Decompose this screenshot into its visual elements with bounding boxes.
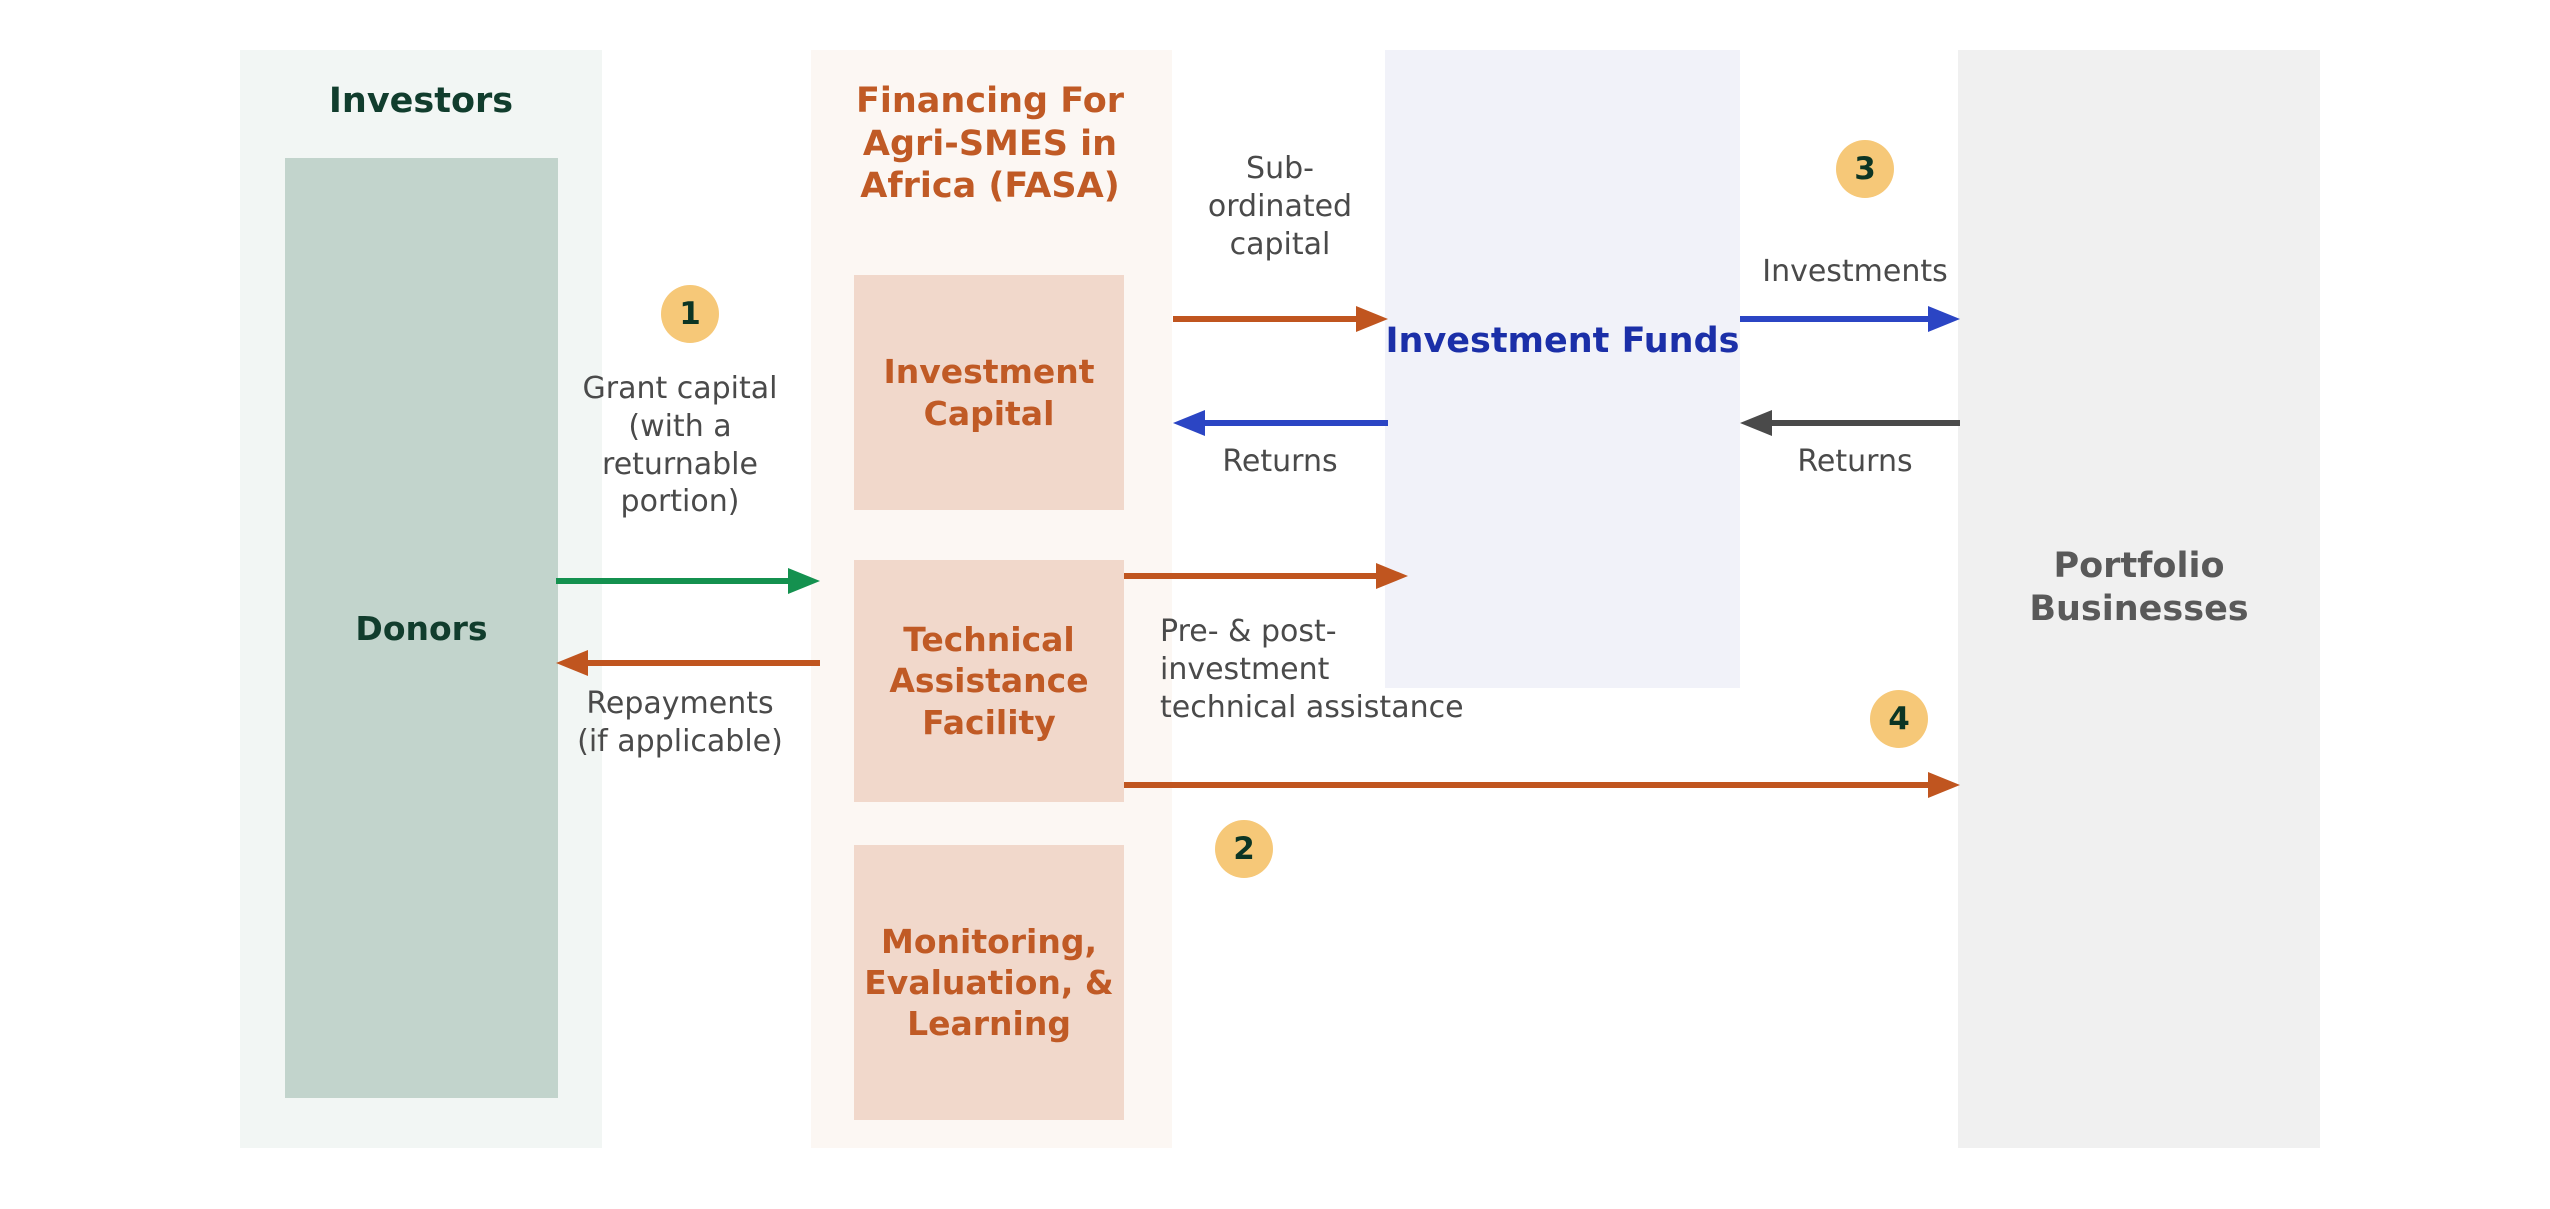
block-technical-assistance-facility: Technical Assistance Facility xyxy=(854,560,1124,802)
title-portfolio-businesses: Portfolio Businesses xyxy=(1958,545,2320,630)
title-fasa: Financing For Agri-SMES in Africa (FASA) xyxy=(840,80,1140,208)
caption-returns-portfolio: Returns xyxy=(1740,443,1970,481)
caption-subordinated-capital: Sub- ordinated capital xyxy=(1175,150,1385,263)
panel-investment-funds xyxy=(1385,50,1740,688)
arrow-returns-funds xyxy=(1173,410,1388,436)
arrow-investments xyxy=(1740,306,1960,332)
caption-line: Grant capital xyxy=(540,370,820,408)
arrow-returns-portfolio xyxy=(1740,410,1960,436)
arrow-grant-capital xyxy=(556,568,820,594)
monitoring-evaluation-label: Monitoring, Evaluation, & Learning xyxy=(854,921,1124,1045)
technical-assistance-label: Technical Assistance Facility xyxy=(854,619,1124,743)
arrow-technical-assistance-to-funds xyxy=(1124,563,1408,589)
caption-grant-capital: Grant capital (with a returnable portion… xyxy=(540,370,820,521)
arrow-repayments xyxy=(556,650,820,676)
title-investors: Investors xyxy=(240,80,602,123)
title-investment-funds: Investment Funds xyxy=(1385,320,1740,363)
caption-line: capital xyxy=(1175,226,1385,264)
caption-line: technical assistance xyxy=(1160,689,1590,727)
block-donors: Donors xyxy=(285,158,558,1098)
caption-line: Repayments xyxy=(540,685,820,723)
caption-line: ordinated xyxy=(1175,188,1385,226)
block-investment-capital: Investment Capital xyxy=(854,275,1124,510)
caption-line: Pre- & post- xyxy=(1160,613,1590,651)
caption-line: (with a xyxy=(540,408,820,446)
caption-line: returnable xyxy=(540,446,820,484)
caption-line: Sub- xyxy=(1175,150,1385,188)
arrow-technical-assistance-to-portfolio xyxy=(1124,772,1960,798)
step-badge-4: 4 xyxy=(1870,690,1928,748)
investment-capital-label: Investment Capital xyxy=(854,351,1124,434)
caption-line: portion) xyxy=(540,483,820,521)
step-badge-3: 3 xyxy=(1836,140,1894,198)
block-monitoring-evaluation-learning: Monitoring, Evaluation, & Learning xyxy=(854,845,1124,1120)
caption-line: (if applicable) xyxy=(540,723,820,761)
step-badge-2: 2 xyxy=(1215,820,1273,878)
caption-repayments: Repayments (if applicable) xyxy=(540,685,820,761)
arrow-subordinated-capital xyxy=(1173,306,1388,332)
caption-investments: Investments xyxy=(1740,253,1970,291)
caption-technical-assistance: Pre- & post- investment technical assist… xyxy=(1160,613,1590,726)
caption-returns-funds: Returns xyxy=(1175,443,1385,481)
donors-label: Donors xyxy=(355,609,487,648)
caption-line: investment xyxy=(1160,651,1590,689)
diagram-canvas: Investors Financing For Agri-SMES in Afr… xyxy=(0,0,2550,1209)
step-badge-1: 1 xyxy=(661,285,719,343)
